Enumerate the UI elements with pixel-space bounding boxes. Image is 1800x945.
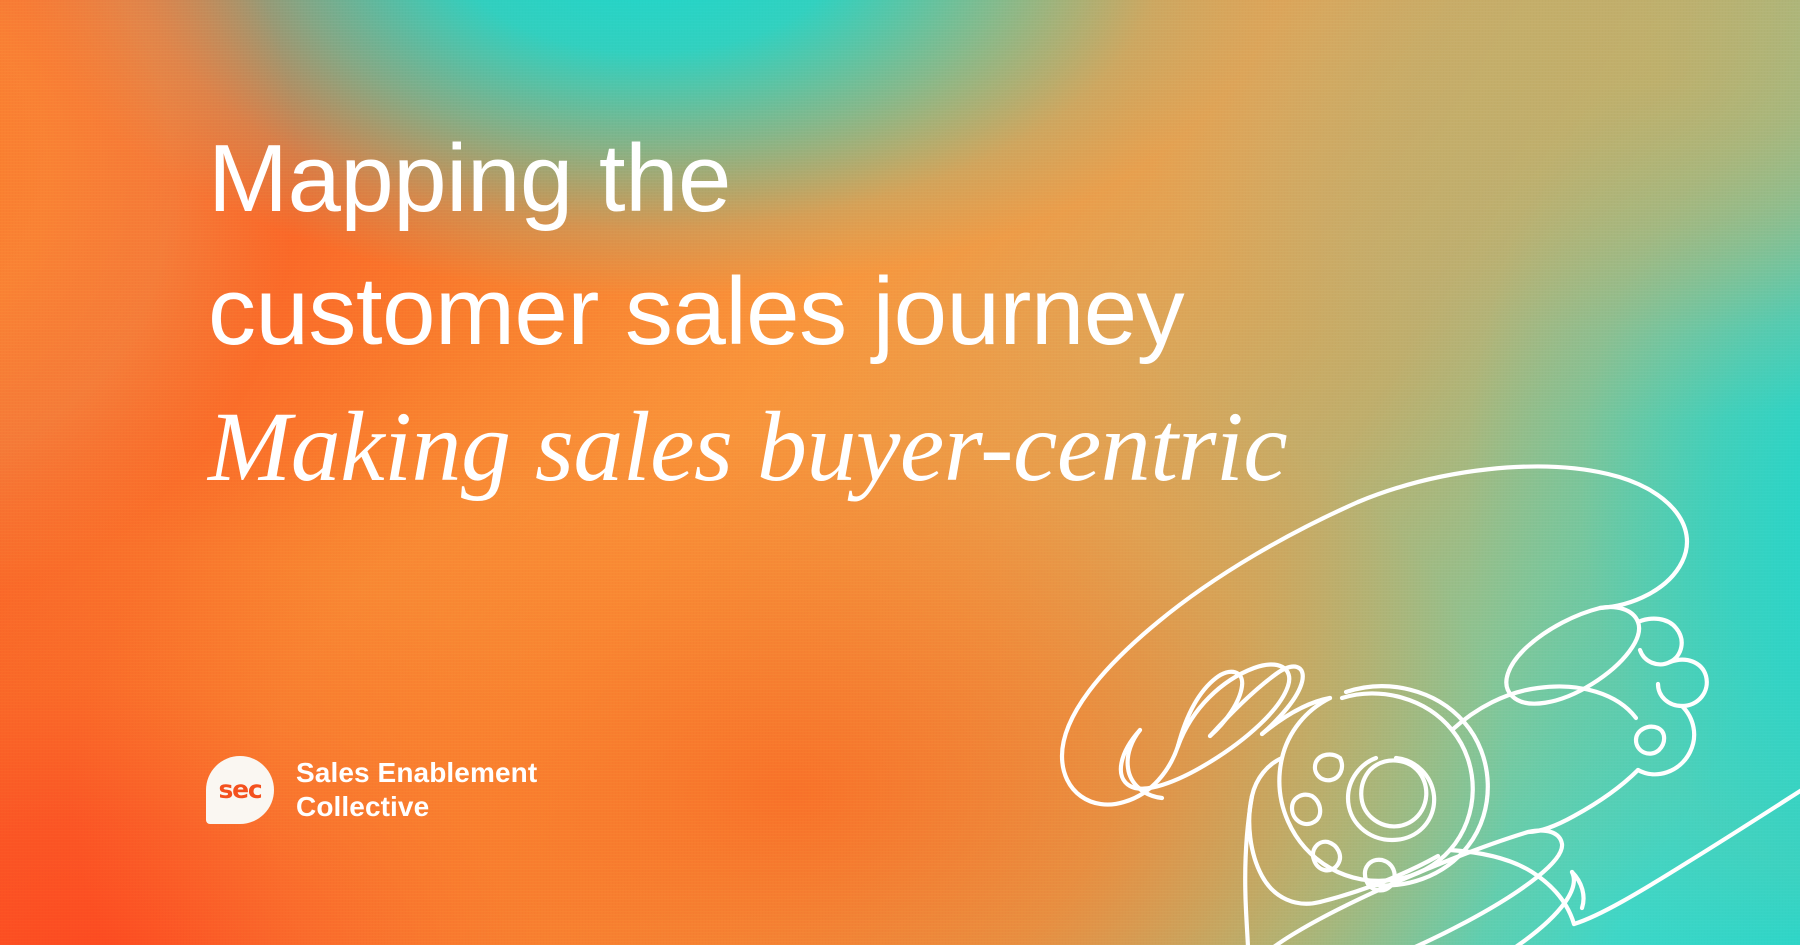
rotary-telephone-illustration <box>1040 440 1800 945</box>
base-ellipse-top <box>1256 832 1528 945</box>
logo-lockup[interactable]: sec Sales Enablement Collective <box>206 756 537 824</box>
dial-finger-hole-2 <box>1292 795 1320 824</box>
logo-wordmark-line-2: Collective <box>296 790 537 824</box>
base-right-tip <box>1572 872 1584 908</box>
base-ellipse-body <box>1252 831 1562 945</box>
headline-line-2: customer sales journey <box>208 245 1508 378</box>
line-exit-right <box>1574 772 1800 924</box>
logo-wordmark-line-1: Sales Enablement <box>296 756 537 790</box>
phone-front-plate-edge <box>1320 856 1438 902</box>
earpiece-tail <box>1128 730 1162 798</box>
logo-mark-label: sec <box>218 777 261 802</box>
phone-right-small-loop <box>1636 727 1664 754</box>
logo-wordmark: Sales Enablement Collective <box>296 756 537 824</box>
handset-right-earpiece <box>1506 607 1639 704</box>
phone-body-upper-right <box>1452 686 1636 730</box>
phone-body-right-shoulder <box>1450 850 1574 924</box>
headline-line-1: Mapping the <box>208 112 1508 245</box>
phone-right-lower-curve <box>1528 770 1638 832</box>
rotary-dial-hub <box>1361 760 1426 826</box>
cradle-hook-right <box>1210 667 1303 736</box>
base-ellipse-lower <box>1249 872 1574 945</box>
dial-finger-hole-4 <box>1365 860 1395 891</box>
handset-right-knob-2 <box>1658 660 1707 706</box>
earpiece-ellipse <box>1121 664 1289 788</box>
phone-front-plate-left <box>1249 758 1320 904</box>
rotary-dial-outer-ring <box>1279 693 1472 880</box>
handset-left-arm <box>1062 502 1358 805</box>
handset-right-knob <box>1638 619 1682 665</box>
speech-bubble-icon: sec <box>206 756 274 824</box>
headline-subtitle-italic: Making sales buyer-centric <box>208 378 1508 510</box>
phone-right-curve <box>1638 706 1694 774</box>
cradle-hook-bridge <box>1262 698 1330 734</box>
cradle-hook-left <box>1178 672 1242 746</box>
rotary-dial-outer-ring-2 <box>1346 686 1488 885</box>
dial-finger-hole-1 <box>1315 755 1342 781</box>
dial-finger-hole-3 <box>1313 842 1340 871</box>
marketing-banner: Mapping the customer sales journey Makin… <box>0 0 1800 945</box>
rotary-dial-hub-ring <box>1348 758 1434 840</box>
line-left-descender <box>1245 796 1252 945</box>
headline-block: Mapping the customer sales journey Makin… <box>208 112 1508 510</box>
